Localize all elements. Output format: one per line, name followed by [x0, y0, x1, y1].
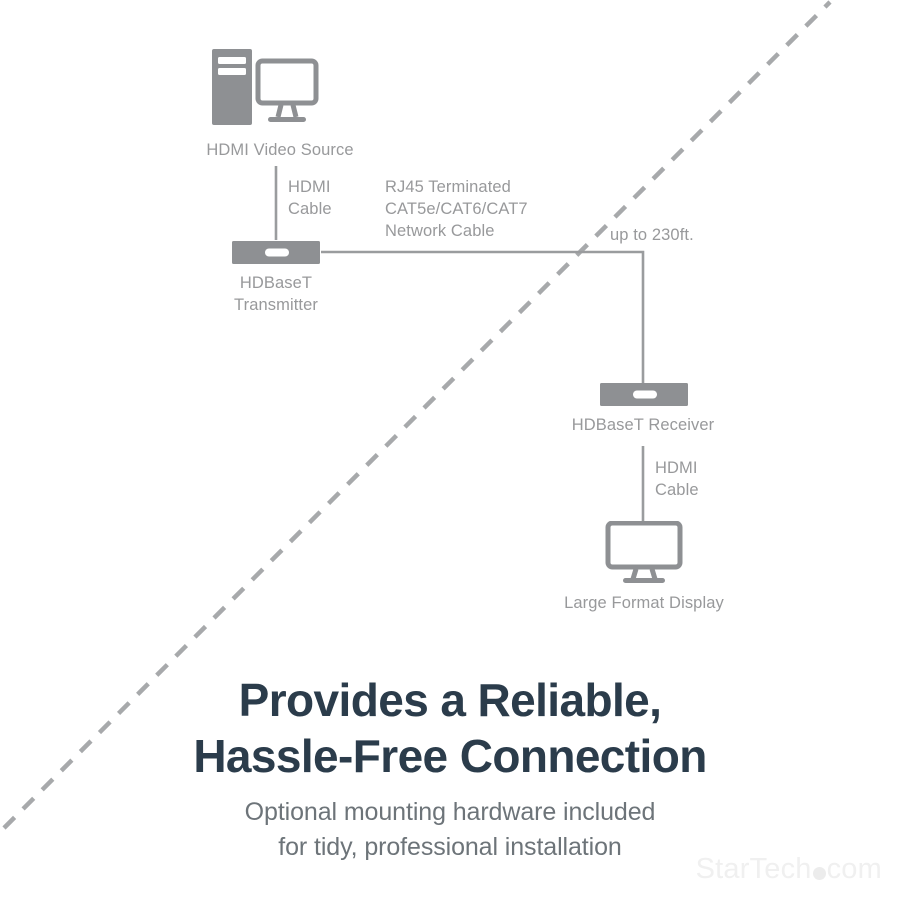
- node-label-hdmi-video-source: HDMI Video Source: [140, 139, 420, 161]
- node-label-hdbaset-transmitter: HDBaseT Transmitter: [176, 272, 376, 316]
- watermark-text-pre: StarTech: [696, 853, 812, 886]
- wire-label-distance: up to 230ft.: [610, 224, 780, 246]
- startech-watermark-logo: StarTech com: [696, 853, 882, 886]
- hdbaset-receiver-box-icon: [600, 383, 688, 406]
- wire-label-hdmi-bottom: HDMI Cable: [655, 457, 775, 501]
- node-hdbaset-receiver: [600, 383, 688, 406]
- node-hdmi-video-source: [208, 47, 320, 129]
- desktop-computer-icon: [208, 47, 320, 129]
- watermark-text-post: com: [827, 853, 882, 886]
- large-monitor-icon: [605, 521, 683, 583]
- watermark-dot-icon: [813, 867, 826, 880]
- hdbaset-transmitter-box-icon: [232, 241, 320, 264]
- diagram-canvas: HDMI Video Source HDBaseT Transmitter HD…: [0, 0, 900, 900]
- wire-label-network-cable: RJ45 Terminated CAT5e/CAT6/CAT7 Network …: [385, 176, 605, 242]
- node-hdbaset-transmitter: [232, 241, 320, 264]
- node-label-large-format-display: Large Format Display: [524, 592, 764, 614]
- node-label-hdbaset-receiver: HDBaseT Receiver: [523, 414, 763, 436]
- node-large-format-display: [605, 521, 683, 583]
- headline: Provides a Reliable, Hassle-Free Connect…: [0, 672, 900, 784]
